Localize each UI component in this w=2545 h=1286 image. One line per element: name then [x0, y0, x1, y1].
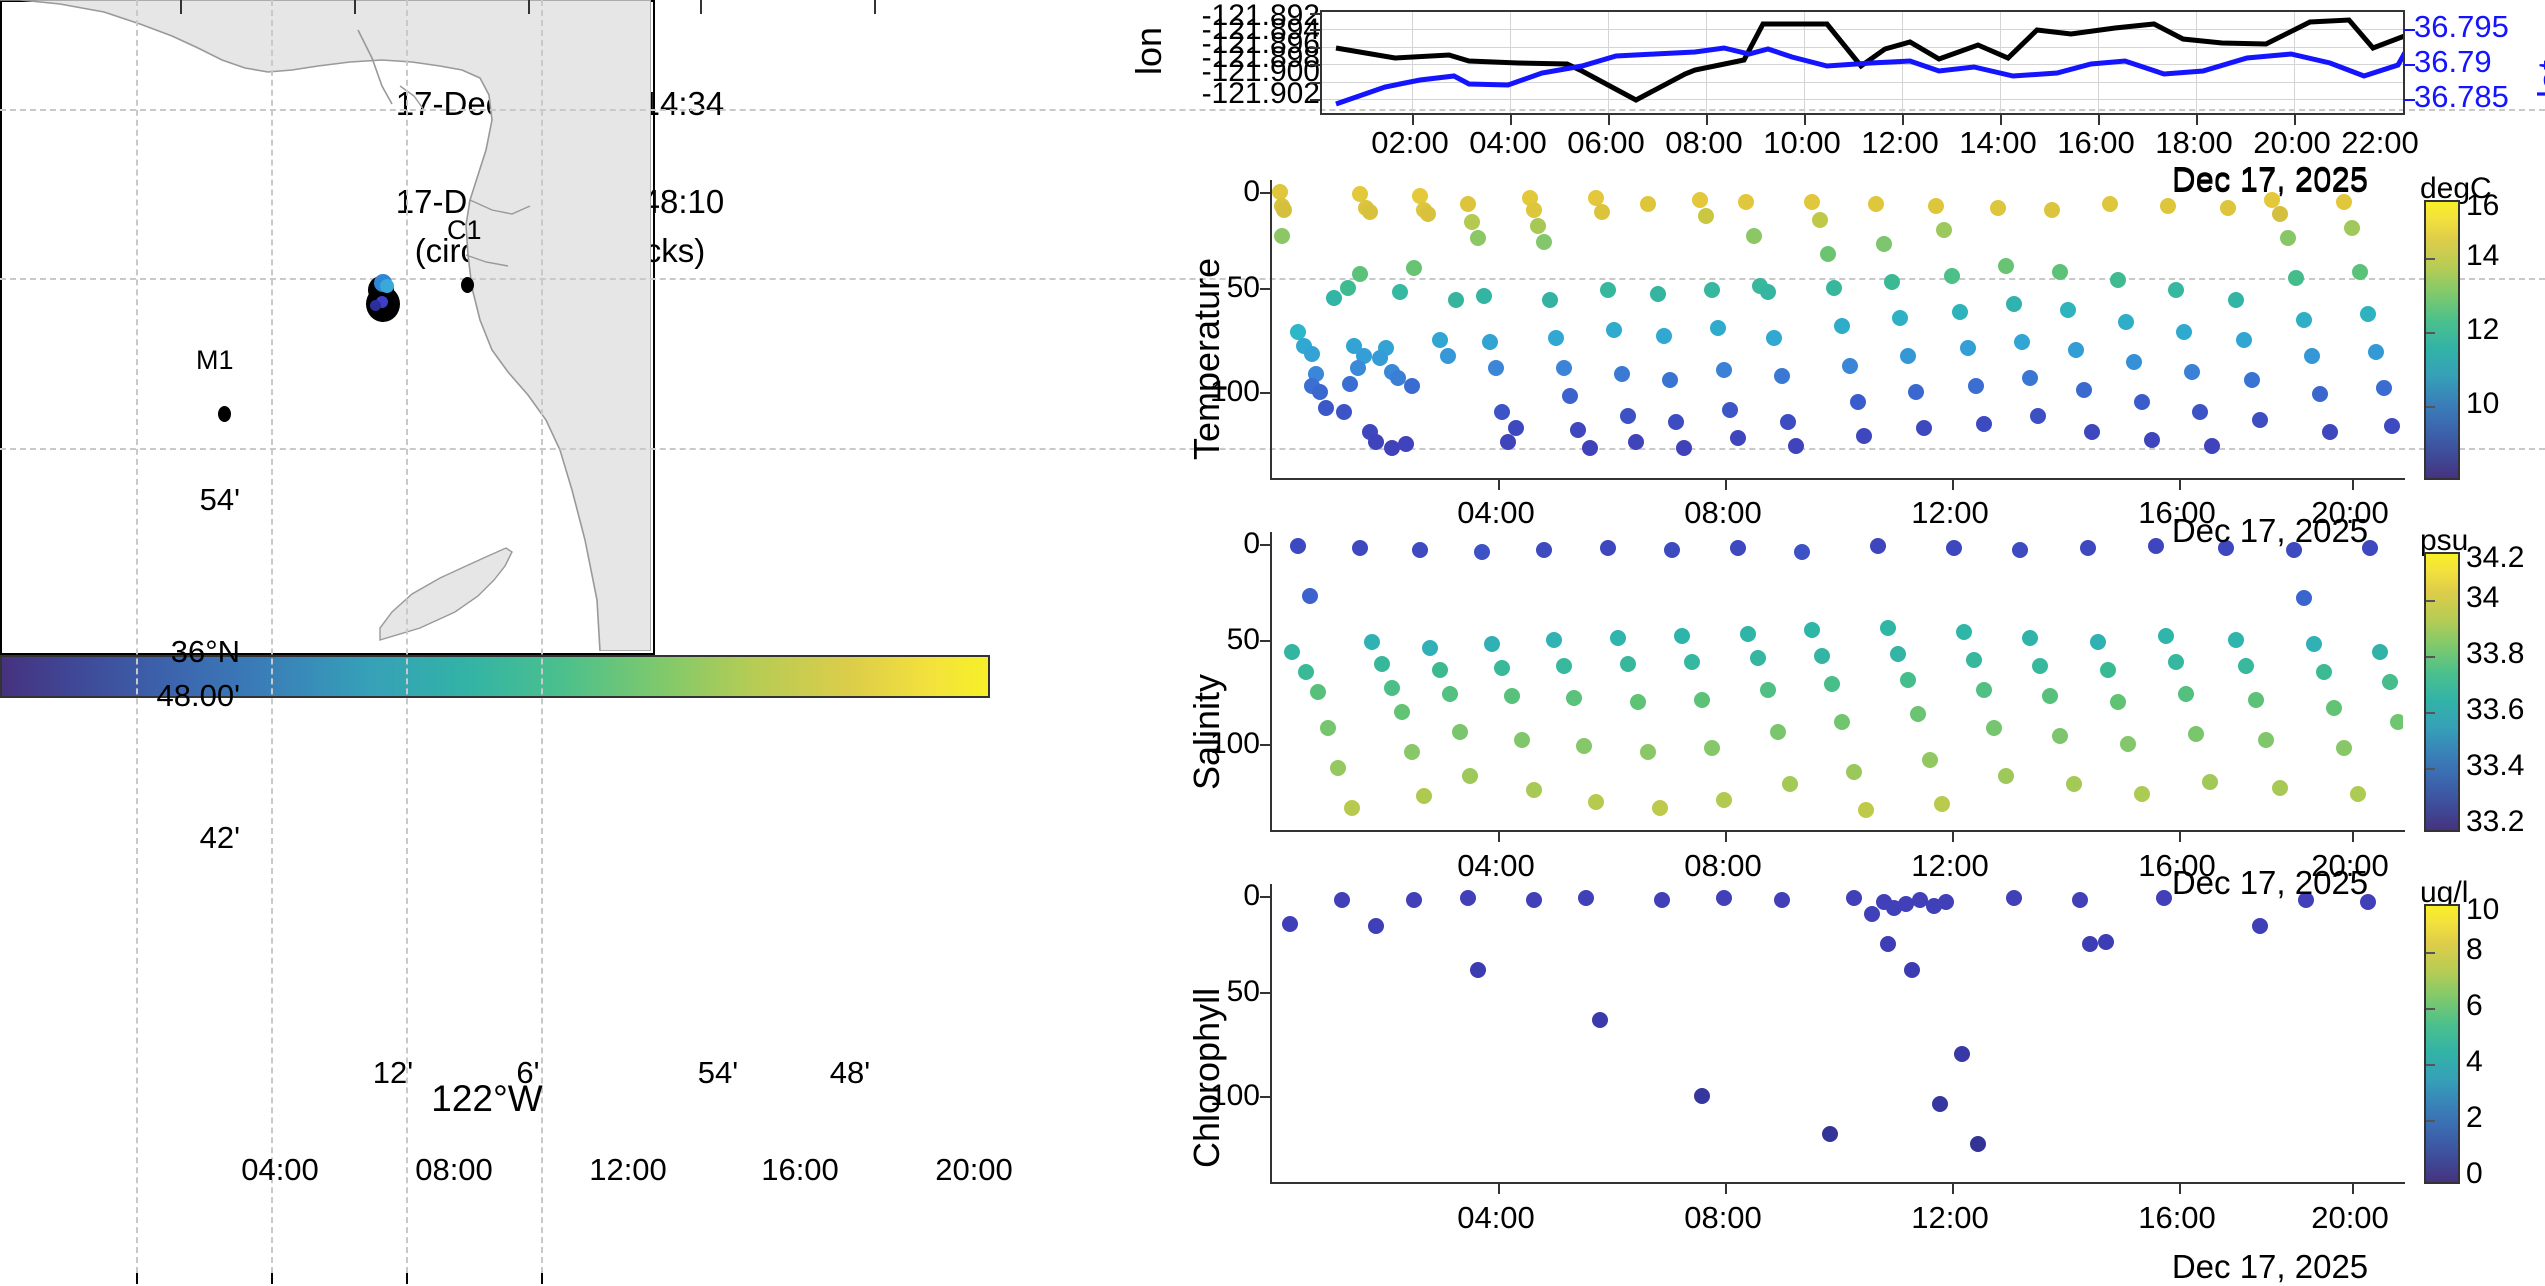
p2-xtick-label: 04:00 [1457, 495, 1535, 531]
scatter-points [1282, 890, 2376, 1152]
p1-xtick-label: 12:00 [1861, 125, 1939, 161]
temperature-colorbar-label: 12 [2466, 313, 2499, 347]
chl-ytick-label: 50 [1200, 975, 1260, 1009]
lon-lat-series [1322, 12, 2403, 113]
temp-ytick-label: 100 [1180, 375, 1260, 409]
chlorophyll-colorbar-label: 8 [2466, 933, 2483, 967]
map-gridline-v-122w [406, 0, 408, 655]
lat-axis-label: lat [2530, 60, 2545, 98]
map-gridline-v-12 [136, 0, 138, 655]
chlorophyll-colorbar-label: 2 [2466, 1101, 2483, 1135]
temperature-colorbar[interactable] [2424, 200, 2460, 480]
chlorophyll-scatter [1272, 884, 2403, 1180]
p3-xtick-label: 12:00 [1911, 848, 1989, 884]
station-marker-m1[interactable] [218, 406, 231, 422]
station-label-m1: M1 [196, 345, 234, 376]
map-xtick-label-12: 12' [373, 1055, 413, 1091]
p2-xtick-label: 08:00 [1684, 495, 1762, 531]
chlorophyll-colorbar[interactable] [2424, 904, 2460, 1184]
chlorophyll-colorbar-label: 6 [2466, 989, 2483, 1023]
p2-xtick-label: 12:00 [1911, 495, 1989, 531]
temperature-scatter [1272, 180, 2403, 476]
p4-xtick-label: 04:00 [1457, 1200, 1535, 1236]
salinity-colorbar-label: 34.2 [2466, 541, 2524, 575]
scatter-points [1272, 184, 2400, 456]
p1-xtick-label: 20:00 [2253, 125, 2331, 161]
p1-xtick-label: 04:00 [1469, 125, 1547, 161]
p3-date-label: Dec 17, 2025 [2172, 512, 2368, 550]
p1-xtick-label: 18:00 [2155, 125, 2233, 161]
map-panel[interactable]: M1 C1 [0, 0, 655, 655]
salinity-colorbar-label: 33.2 [2466, 805, 2524, 839]
time-colorbar-label-0800: 08:00 [415, 1152, 493, 1188]
time-colorbar-tick [180, 0, 182, 14]
map-gridline-h-42 [0, 448, 655, 450]
salinity-scatter [1272, 532, 2403, 828]
time-colorbar-tick [354, 0, 356, 14]
p4-date-label-top: Dec 17, 2025 [2172, 864, 2368, 902]
time-colorbar-label-2000: 20:00 [935, 1152, 1013, 1188]
scatter-points [1284, 538, 2403, 818]
time-colorbar-tick [528, 0, 530, 14]
chl-ytick-label: 0 [1200, 879, 1260, 913]
lat-series-line [1336, 48, 2403, 104]
salinity-colorbar-label: 33.4 [2466, 749, 2524, 783]
p1-xtick-label: 02:00 [1371, 125, 1449, 161]
p2-date-label: Dec 17, 2025 [2172, 160, 2368, 198]
p4-date-label: Dec 17, 2025 [2172, 1248, 2368, 1286]
salinity-colorbar[interactable] [2424, 552, 2460, 832]
map-ytick-label-48min: 48.00' [60, 678, 240, 714]
map-gridline-h-36n [0, 278, 655, 280]
temperature-colorbar-label: 10 [2466, 387, 2499, 421]
p1-xtick-label: 06:00 [1567, 125, 1645, 161]
chlorophyll-colorbar-label: 10 [2466, 893, 2499, 927]
temperature-section-plot[interactable] [1270, 180, 2405, 480]
map-gridline-v-54 [541, 0, 543, 655]
salinity-section-plot[interactable] [1270, 532, 2405, 832]
lon-lat-plot[interactable] [1320, 10, 2405, 115]
map-xtick-label-48: 48' [830, 1055, 870, 1091]
p1-xtick-label: 10:00 [1763, 125, 1841, 161]
map-gridline-h-54 [0, 109, 655, 111]
map-x-axis-title: 122°W [431, 1078, 542, 1120]
temperature-colorbar-label: 16 [2466, 189, 2499, 223]
station-label-c1: C1 [447, 215, 482, 246]
p1-xtick-label: 14:00 [1959, 125, 2037, 161]
sal-ytick-label: 0 [1200, 527, 1260, 561]
chlorophyll-colorbar-label: 4 [2466, 1045, 2483, 1079]
temp-ytick-label: 50 [1200, 271, 1260, 305]
salinity-colorbar-label: 33.8 [2466, 637, 2524, 671]
map-xtick-label-54: 54' [698, 1055, 738, 1091]
p3-xtick-label: 04:00 [1457, 848, 1535, 884]
lat-ytick-label: 36.795 [2414, 9, 2509, 45]
p4-xtick-label: 16:00 [2138, 1200, 2216, 1236]
chlorophyll-axis-label: Chlorophyll [1186, 988, 1228, 1168]
temp-ytick-label: 0 [1200, 175, 1260, 209]
station-marker-c1[interactable] [461, 277, 474, 293]
lon-ytick-label: -121.902 [1150, 77, 1320, 111]
p4-xtick-label: 08:00 [1684, 1200, 1762, 1236]
lat-ytick-label: 36.785 [2414, 79, 2509, 115]
time-colorbar-label-0400: 04:00 [241, 1152, 319, 1188]
time-colorbar-tick [700, 0, 702, 14]
salinity-colorbar-label: 33.6 [2466, 693, 2524, 727]
map-ytick-label-36n: 36°N [60, 634, 240, 670]
p1-xtick-label: 22:00 [2341, 125, 2419, 161]
chl-ytick-label: 100 [1180, 1079, 1260, 1113]
coastline-shape [0, 0, 651, 651]
time-colorbar-tick [874, 0, 876, 14]
map-ytick-label-54: 54' [60, 482, 240, 518]
p3-xtick-label: 08:00 [1684, 848, 1762, 884]
p1-xtick-label: 08:00 [1665, 125, 1743, 161]
time-colorbar-label-1600: 16:00 [761, 1152, 839, 1188]
track-point [370, 300, 381, 311]
salinity-colorbar-label: 34 [2466, 581, 2499, 615]
map-gridline-v-6 [271, 0, 273, 655]
chlorophyll-section-plot[interactable] [1270, 884, 2405, 1184]
temperature-colorbar-label: 14 [2466, 239, 2499, 273]
sal-ytick-label: 50 [1200, 623, 1260, 657]
p4-xtick-label: 20:00 [2311, 1200, 2389, 1236]
chlorophyll-colorbar-label: 0 [2466, 1157, 2483, 1191]
lat-ytick-label: 36.79 [2414, 44, 2492, 80]
track-point [380, 279, 394, 293]
sal-ytick-label: 100 [1180, 727, 1260, 761]
map-ytick-label-42: 42' [60, 820, 240, 856]
p4-xtick-label: 12:00 [1911, 1200, 1989, 1236]
p1-xtick-label: 16:00 [2057, 125, 2135, 161]
time-colorbar-label-1200: 12:00 [589, 1152, 667, 1188]
